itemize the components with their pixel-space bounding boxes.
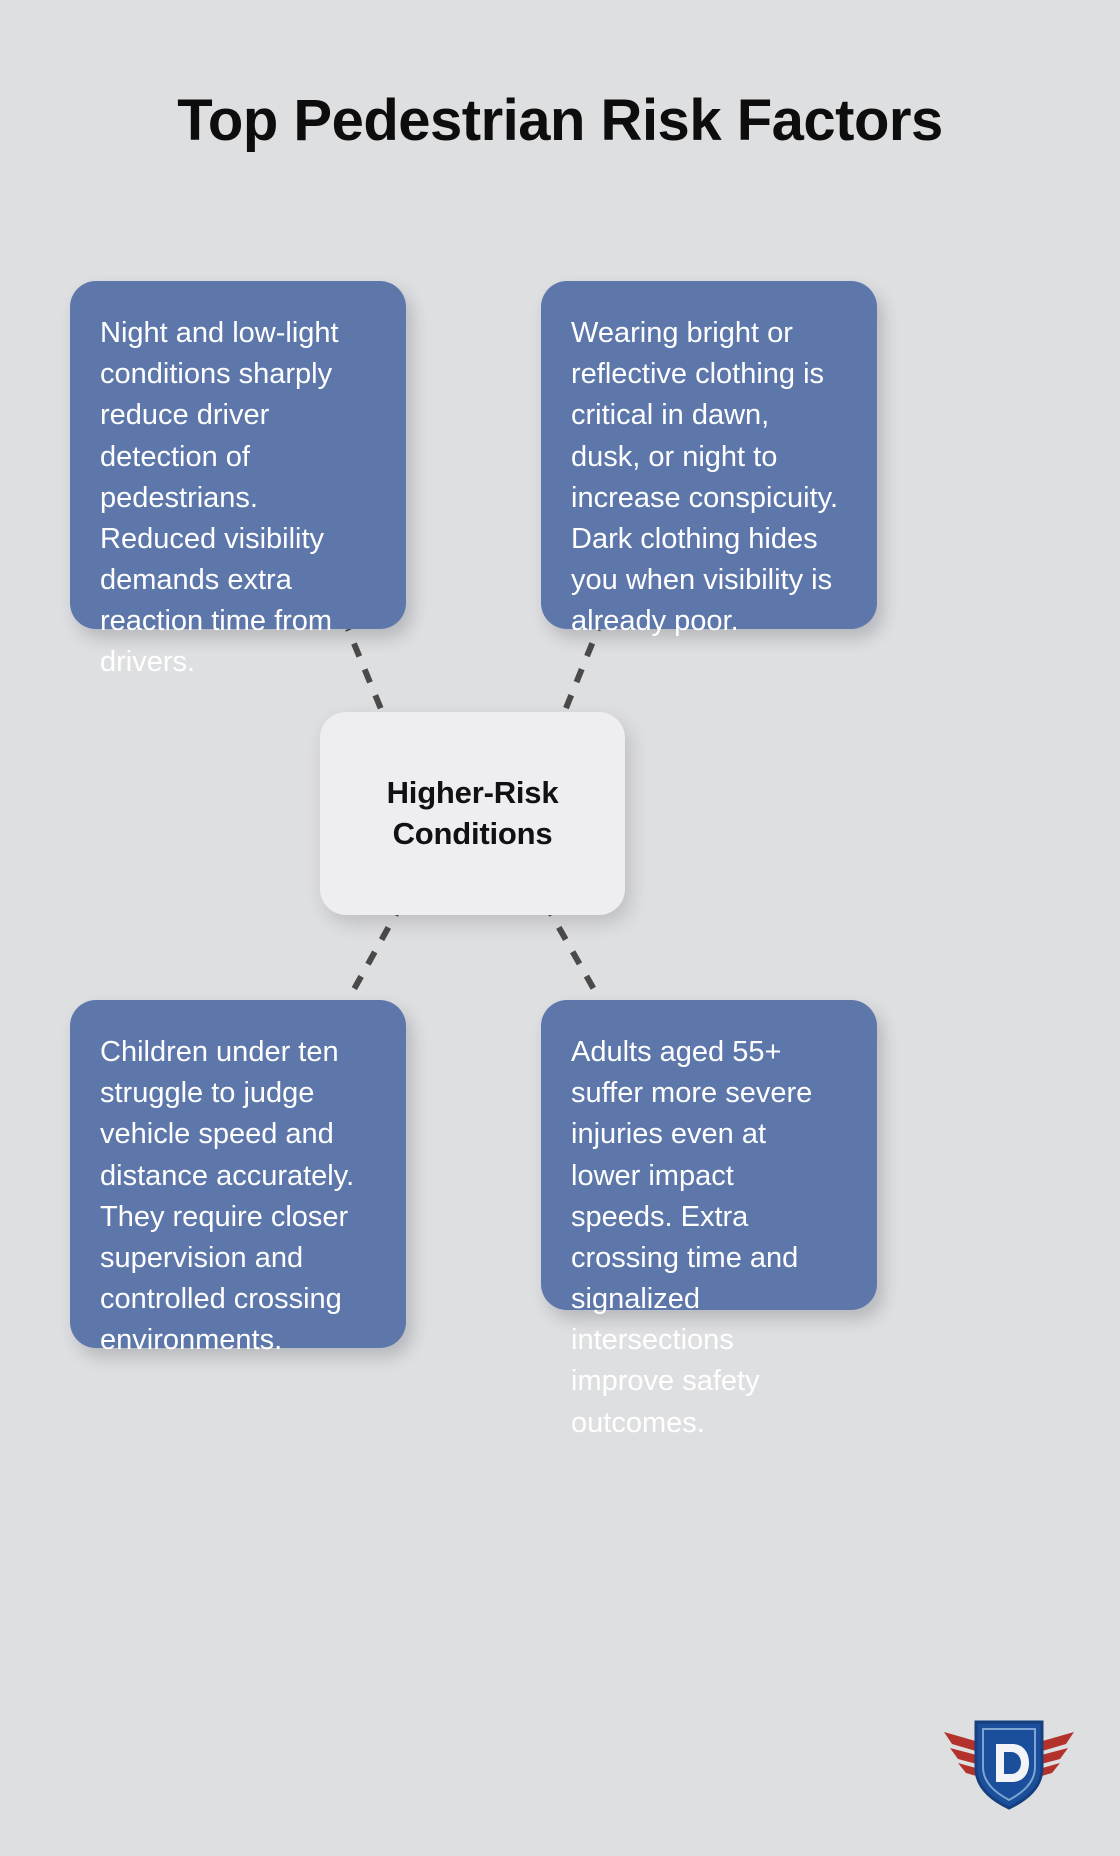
risk-card-clothing-visibility[interactable]: Wearing bright or reflective clothing is… <box>541 281 877 629</box>
connector-lines <box>0 0 1120 1856</box>
center-hub-label-line2: Conditions <box>393 816 553 851</box>
infographic-canvas: Top Pedestrian Risk Factors Night and lo… <box>0 0 1120 1856</box>
risk-card-text: Children under ten struggle to judge veh… <box>100 1032 372 1361</box>
risk-card-text: Night and low-light conditions sharply r… <box>100 313 372 684</box>
center-hub-card[interactable]: Higher-Risk Conditions <box>320 712 625 915</box>
center-hub-label: Higher-Risk Conditions <box>387 773 559 855</box>
connector-center-to-bottom-right <box>545 903 600 1000</box>
risk-card-children-under-ten[interactable]: Children under ten struggle to judge veh… <box>70 1000 406 1348</box>
winged-shield-d-logo <box>942 1710 1076 1814</box>
risk-card-older-adults[interactable]: Adults aged 55+ suffer more severe injur… <box>541 1000 877 1310</box>
risk-card-text: Wearing bright or reflective clothing is… <box>571 313 843 642</box>
logo-shield <box>976 1722 1042 1808</box>
risk-card-night-low-light[interactable]: Night and low-light conditions sharply r… <box>70 281 406 629</box>
risk-card-text: Adults aged 55+ suffer more severe injur… <box>571 1032 843 1444</box>
center-hub-label-line1: Higher-Risk <box>387 775 559 810</box>
connector-center-to-bottom-left <box>348 903 402 1000</box>
